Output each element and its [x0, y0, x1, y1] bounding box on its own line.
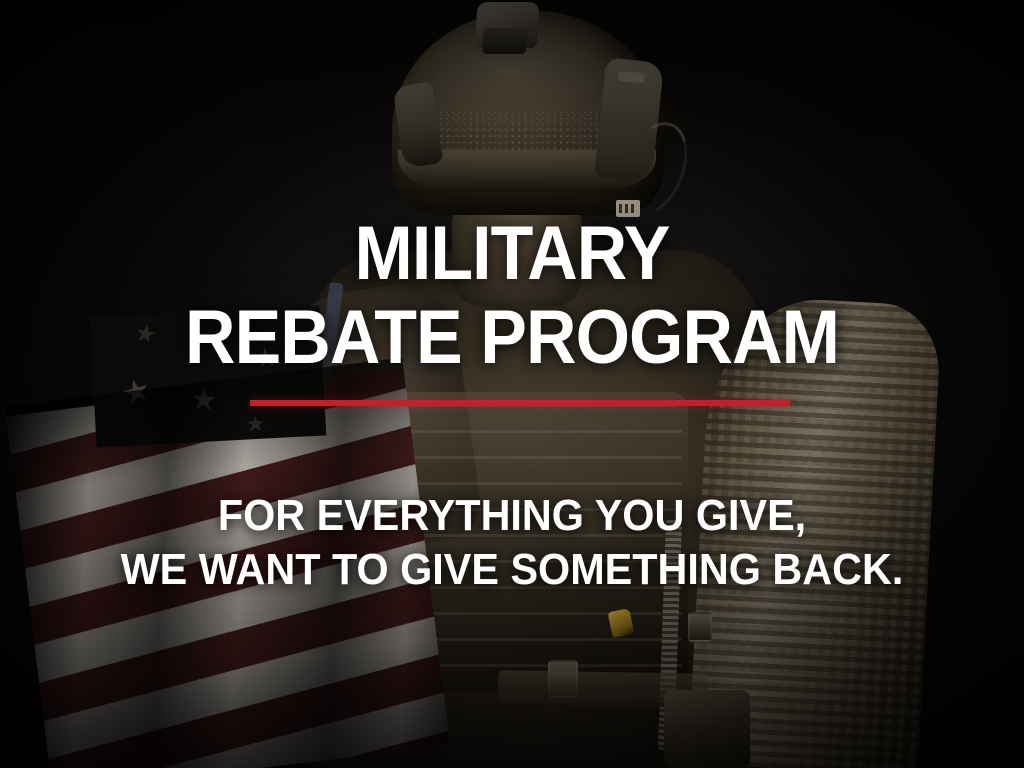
red-divider-rule: [250, 400, 790, 406]
text-overlay: MILITARY REBATE PROGRAM FOR EVERYTHING Y…: [0, 0, 1024, 768]
headline-line-1: MILITARY: [41, 216, 983, 292]
headline-line-2: REBATE PROGRAM: [41, 300, 983, 376]
subheadline-line-1: FOR EVERYTHING YOU GIVE,: [31, 494, 994, 538]
subheadline-line-2: WE WANT TO GIVE SOMETHING BACK.: [31, 548, 994, 592]
military-rebate-poster: ★ ★ ★ ★ ★ MILITARY REBATE PROGRAM FOR EV…: [0, 0, 1024, 768]
